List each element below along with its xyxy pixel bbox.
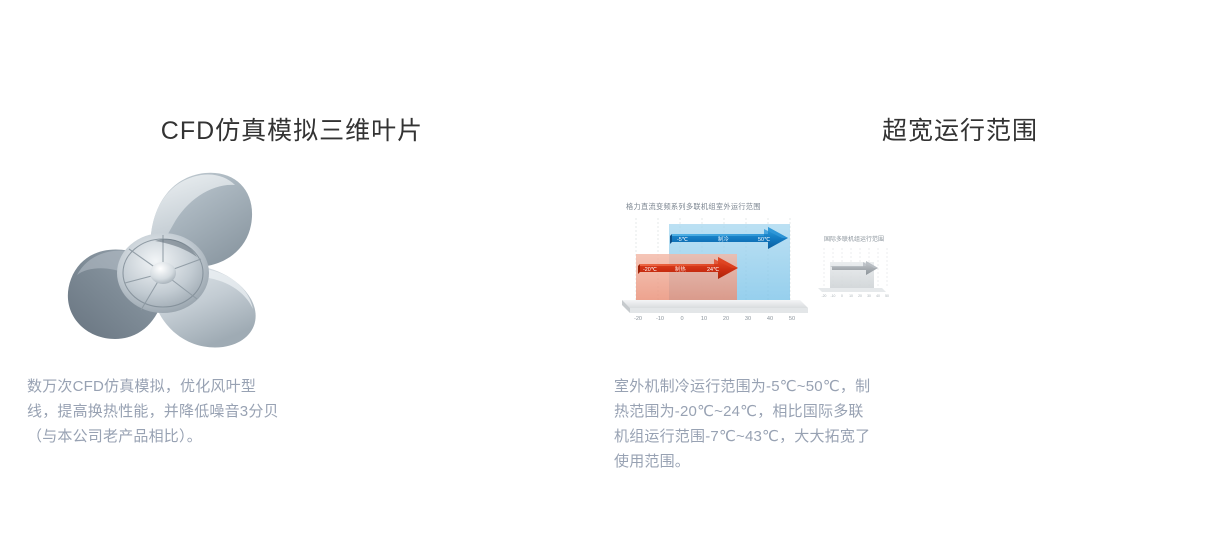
x-tick: 30	[867, 294, 871, 298]
page-title: 超宽运行范围	[882, 111, 1038, 147]
feature-description-line: 线，提高换热性能，并降低噪音3分贝	[27, 399, 327, 424]
x-tick: 10	[849, 294, 853, 298]
x-tick: -10	[831, 294, 836, 298]
secondary-chart-title: 国际多联机组运行范围	[824, 235, 884, 243]
x-tick: 20	[858, 294, 862, 298]
x-tick: 40	[876, 294, 880, 298]
x-tick: -20	[634, 316, 642, 322]
x-tick: 10	[701, 316, 707, 322]
feature-description-line: 机组运行范围-7℃~43℃，大大拓宽了	[614, 424, 914, 449]
x-tick: 20	[723, 316, 729, 322]
x-tick: -20	[822, 294, 827, 298]
feature-description-line: （与本公司老产品相比）。	[27, 424, 327, 449]
x-tick: 0	[841, 294, 843, 298]
secondary-x-axis: -20 -10 0 10 20 30 40 50	[822, 294, 889, 298]
feature-section: CFD仿真模拟三维叶片	[0, 0, 1215, 554]
heating-start-label: -20℃	[643, 267, 657, 273]
x-tick: 50	[885, 294, 889, 298]
feature-description-line: 室外机制冷运行范围为-5℃~50℃，制	[614, 374, 914, 399]
feature-description-line: 热范围为-20℃~24℃，相比国际多联	[614, 399, 914, 424]
feature-description: 室外机制冷运行范围为-5℃~50℃，制 热范围为-20℃~24℃，相比国际多联 …	[614, 374, 914, 474]
three-blade-fan-icon	[55, 163, 275, 353]
chart-title: 格力直流变频系列多联机组室外运行范围	[626, 202, 761, 211]
secondary-base-slab	[818, 288, 886, 292]
x-tick: -10	[656, 316, 664, 322]
x-tick: 50	[789, 316, 795, 322]
feature-block-cfd-fan: CFD仿真模拟三维叶片	[0, 0, 600, 554]
fan-blade-illustration	[55, 163, 275, 353]
page-title: CFD仿真模拟三维叶片	[0, 111, 592, 147]
x-tick: 40	[767, 316, 773, 322]
feature-description-line: 使用范围。	[614, 449, 914, 474]
feature-description-line: 数万次CFD仿真模拟，优化风叶型	[27, 374, 327, 399]
x-tick: 0	[680, 316, 683, 322]
x-tick: 30	[745, 316, 751, 322]
cooling-start-label: -5℃	[677, 237, 688, 243]
chart-base-slab	[622, 300, 808, 313]
cooling-mode-label: 制冷	[718, 235, 729, 243]
operating-range-chart: 格力直流变频系列多联机组室外运行范围	[612, 196, 902, 331]
operating-range-figure: 格力直流变频系列多联机组室外运行范围	[612, 196, 902, 331]
feature-block-operating-range: 超宽运行范围	[600, 0, 1215, 554]
heating-mode-label: 制热	[675, 265, 686, 273]
chart-x-axis: -20 -10 0 10 20 30 40 50	[634, 316, 795, 322]
feature-description: 数万次CFD仿真模拟，优化风叶型 线，提高换热性能，并降低噪音3分贝 （与本公司…	[27, 374, 327, 449]
international-range-panel: 国际多联机组运行范围	[818, 235, 889, 298]
cooling-end-label: 50℃	[758, 237, 770, 243]
fan-hub-center	[150, 262, 176, 284]
heating-end-label: 24℃	[707, 267, 719, 273]
